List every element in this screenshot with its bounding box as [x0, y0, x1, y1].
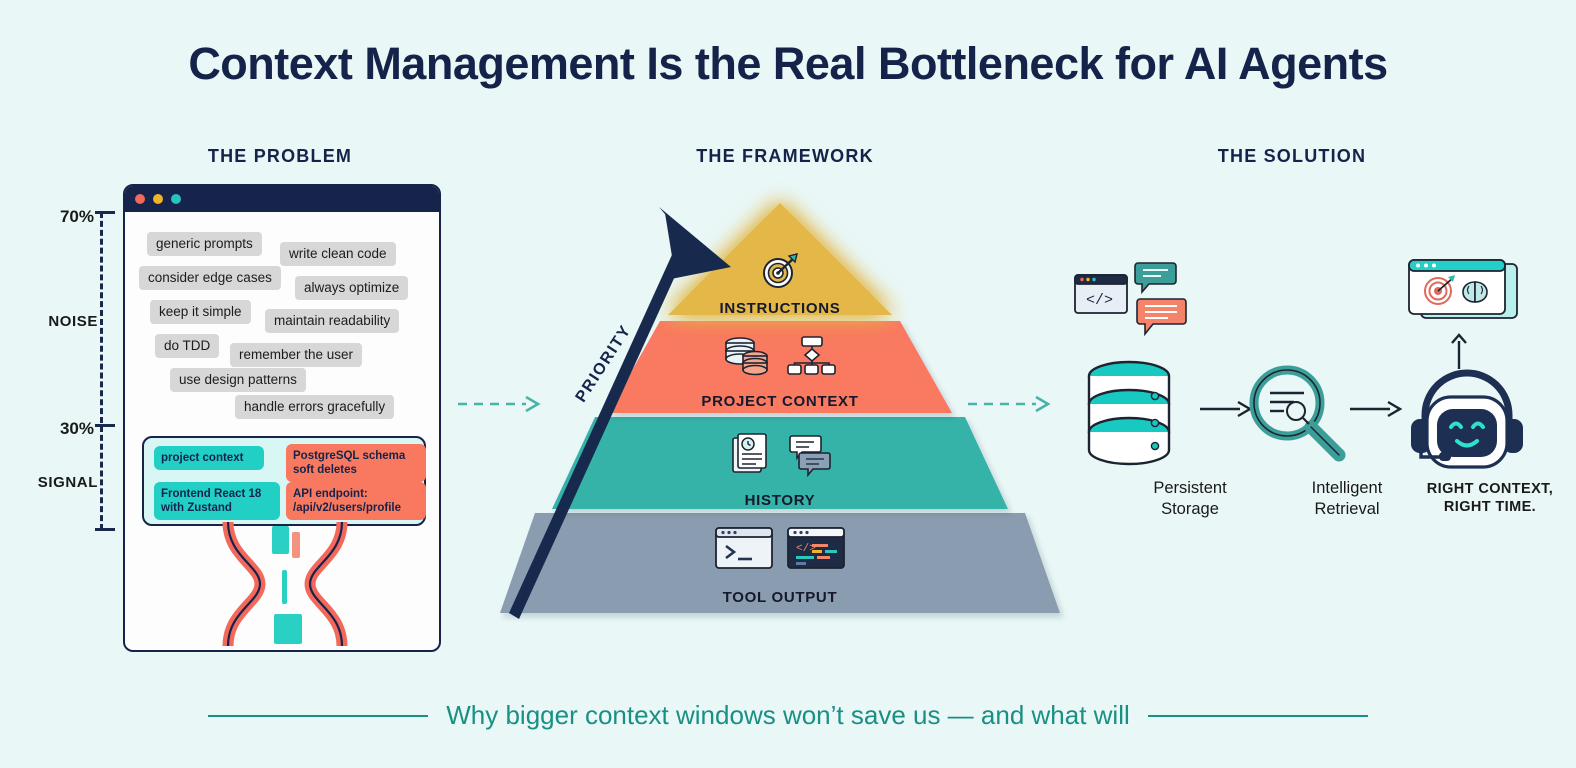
- noise-tag: keep it simple: [150, 300, 251, 324]
- solution-flow: </>: [1055, 255, 1545, 545]
- chat-bubble-teal-icon: [1135, 261, 1179, 295]
- noise-tag: handle errors gracefully: [235, 395, 394, 419]
- brain-icon: [1463, 282, 1487, 302]
- minimize-dot-icon[interactable]: [153, 194, 163, 204]
- magnifier-search-icon: [1243, 363, 1349, 467]
- noise-tag: remember the user: [230, 343, 362, 367]
- noise-tag: always optimize: [295, 276, 408, 300]
- robot-headset-icon: [1403, 367, 1531, 473]
- chat-bubbles-icon: [787, 433, 831, 477]
- arrow-retrieval-to-agent-icon: [1350, 400, 1402, 418]
- caption-right-context-right-time: RIGHT CONTEXT, RIGHT TIME.: [1405, 480, 1575, 516]
- target-icon: [759, 250, 801, 292]
- flowchart-icon: [786, 335, 838, 377]
- noise-signal-axis: [100, 212, 105, 530]
- noise-tag: consider edge cases: [139, 266, 281, 290]
- context-window-panel: generic prompts write clean code conside…: [123, 184, 441, 652]
- code-window-icon: </>: [1073, 271, 1129, 317]
- chat-bubble-coral-icon: [1137, 297, 1189, 337]
- footer-text: Why bigger context windows won’t save us…: [446, 700, 1130, 731]
- database-icon: [1079, 360, 1179, 468]
- code-editor-icon: </>: [786, 525, 846, 571]
- column-header-problem: THE PROBLEM: [140, 146, 420, 167]
- noise-tag: generic prompts: [147, 232, 262, 256]
- signal-tag: Frontend React 18 with Zustand: [154, 482, 280, 520]
- infographic-root: Context Management Is the Real Bottlenec…: [0, 0, 1576, 768]
- noise-tag-area: generic prompts write clean code conside…: [125, 212, 439, 436]
- footer: Why bigger context windows won’t save us…: [0, 700, 1576, 731]
- column-header-framework: THE FRAMEWORK: [645, 146, 925, 167]
- maximize-dot-icon[interactable]: [171, 194, 181, 204]
- close-dot-icon[interactable]: [135, 194, 145, 204]
- signal-tag: API endpoint: /api/v2/users/profile: [286, 482, 426, 520]
- axis-label-signal: SIGNAL: [6, 474, 98, 491]
- caption-persistent-storage: Persistent Storage: [1105, 478, 1275, 519]
- svg-text:</>: </>: [1086, 292, 1113, 309]
- column-header-solution: THE SOLUTION: [1152, 146, 1432, 167]
- priority-arrow-icon: [495, 195, 745, 620]
- axis-label-noise: NOISE: [6, 313, 98, 330]
- connector-arrow-framework-to-solution: [968, 396, 1056, 412]
- bottleneck-funnel-icon: [220, 522, 350, 646]
- footer-rule-left: [208, 715, 428, 717]
- footer-rule-right: [1148, 715, 1368, 717]
- axis-label-30: 30%: [24, 419, 94, 439]
- noise-tag: maintain readability: [265, 309, 399, 333]
- noise-tag: use design patterns: [170, 368, 306, 392]
- signal-tag-box: project context PostgreSQL schema soft d…: [142, 436, 426, 526]
- signal-tag: PostgreSQL schema soft deletes: [286, 444, 426, 482]
- noise-tag: write clean code: [280, 242, 396, 266]
- axis-label-70: 70%: [24, 207, 94, 227]
- result-screen-icon: [1403, 256, 1523, 330]
- window-titlebar: [125, 186, 439, 212]
- signal-tag: project context: [154, 446, 264, 470]
- noise-tag: do TDD: [155, 334, 219, 358]
- arrow-agent-to-result-icon: [1450, 335, 1468, 369]
- page-title: Context Management Is the Real Bottlenec…: [0, 38, 1576, 90]
